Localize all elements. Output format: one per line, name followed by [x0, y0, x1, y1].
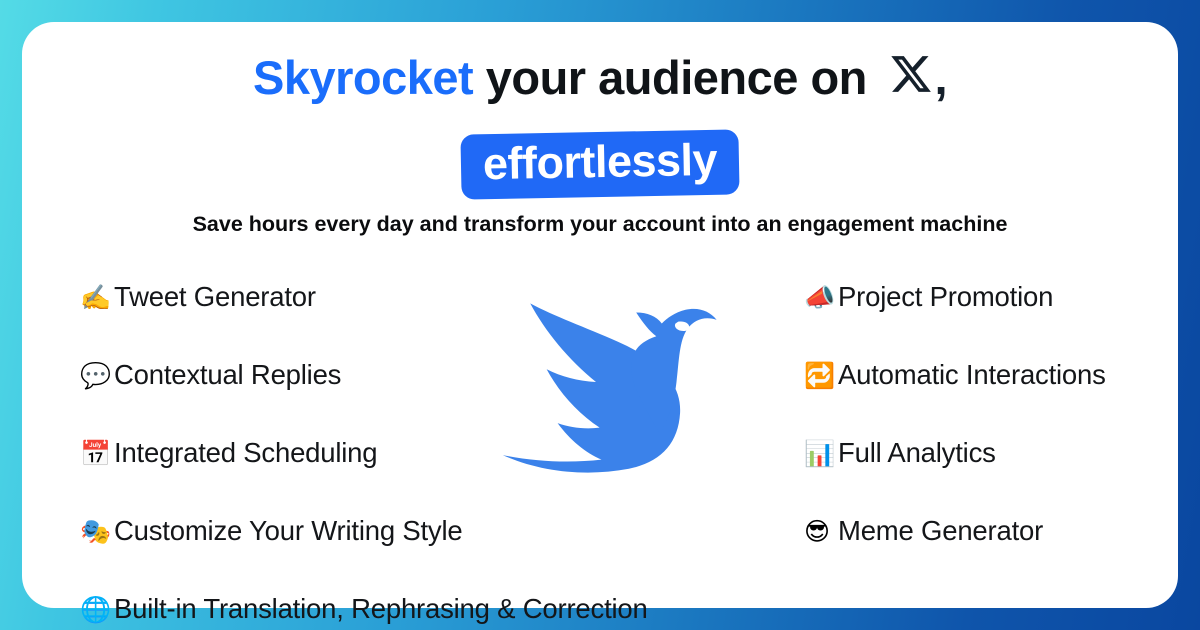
- flying-bird-logo: [490, 274, 755, 479]
- speech-balloon-icon: 💬: [80, 363, 114, 388]
- headline-rest: your audience on: [473, 51, 879, 104]
- feature-label: Contextual Replies: [114, 359, 341, 391]
- subtitle: Save hours every day and transform your …: [22, 212, 1178, 237]
- calendar-icon: 📅: [80, 441, 114, 466]
- gradient-background: Skyrocket your audience on , effortlessl…: [0, 0, 1200, 630]
- list-item: 😎 Meme Generator: [804, 492, 1200, 570]
- repeat-arrows-icon: 🔁: [804, 363, 838, 388]
- badge-row: effortlessly: [22, 132, 1178, 197]
- list-item: 🌐 Built-in Translation, Rephrasing & Cor…: [80, 570, 780, 630]
- globe-meridians-icon: 🌐: [80, 597, 114, 622]
- headline-accent-word: Skyrocket: [253, 51, 473, 104]
- feature-label: Meme Generator: [838, 515, 1043, 547]
- list-item: 📣 Project Promotion: [804, 258, 1200, 336]
- feature-label: Project Promotion: [838, 281, 1053, 313]
- list-item: 📊 Full Analytics: [804, 414, 1200, 492]
- smiling-face-sunglasses-icon: 😎: [804, 519, 838, 544]
- performing-arts-masks-icon: 🎭: [80, 519, 114, 544]
- feature-label: Integrated Scheduling: [114, 437, 377, 469]
- megaphone-icon: 📣: [804, 285, 838, 310]
- writing-hand-icon: ✍️: [80, 285, 114, 310]
- feature-label: Built-in Translation, Rephrasing & Corre…: [114, 593, 648, 625]
- list-item: 🎭 Customize Your Writing Style: [80, 492, 780, 570]
- x-logo-icon: [889, 52, 933, 96]
- list-item: 🔁 Automatic Interactions: [804, 336, 1200, 414]
- headline-comma: ,: [934, 51, 947, 104]
- feature-list-right: 📣 Project Promotion 🔁 Automatic Interact…: [804, 258, 1200, 570]
- feature-label: Customize Your Writing Style: [114, 515, 463, 547]
- feature-label: Full Analytics: [838, 437, 996, 469]
- effortlessly-badge: effortlessly: [460, 129, 739, 199]
- content-card: Skyrocket your audience on , effortlessl…: [22, 22, 1178, 608]
- page-title: Skyrocket your audience on ,: [22, 52, 1178, 105]
- bar-chart-icon: 📊: [804, 441, 838, 466]
- feature-label: Tweet Generator: [114, 281, 316, 313]
- feature-label: Automatic Interactions: [838, 359, 1106, 391]
